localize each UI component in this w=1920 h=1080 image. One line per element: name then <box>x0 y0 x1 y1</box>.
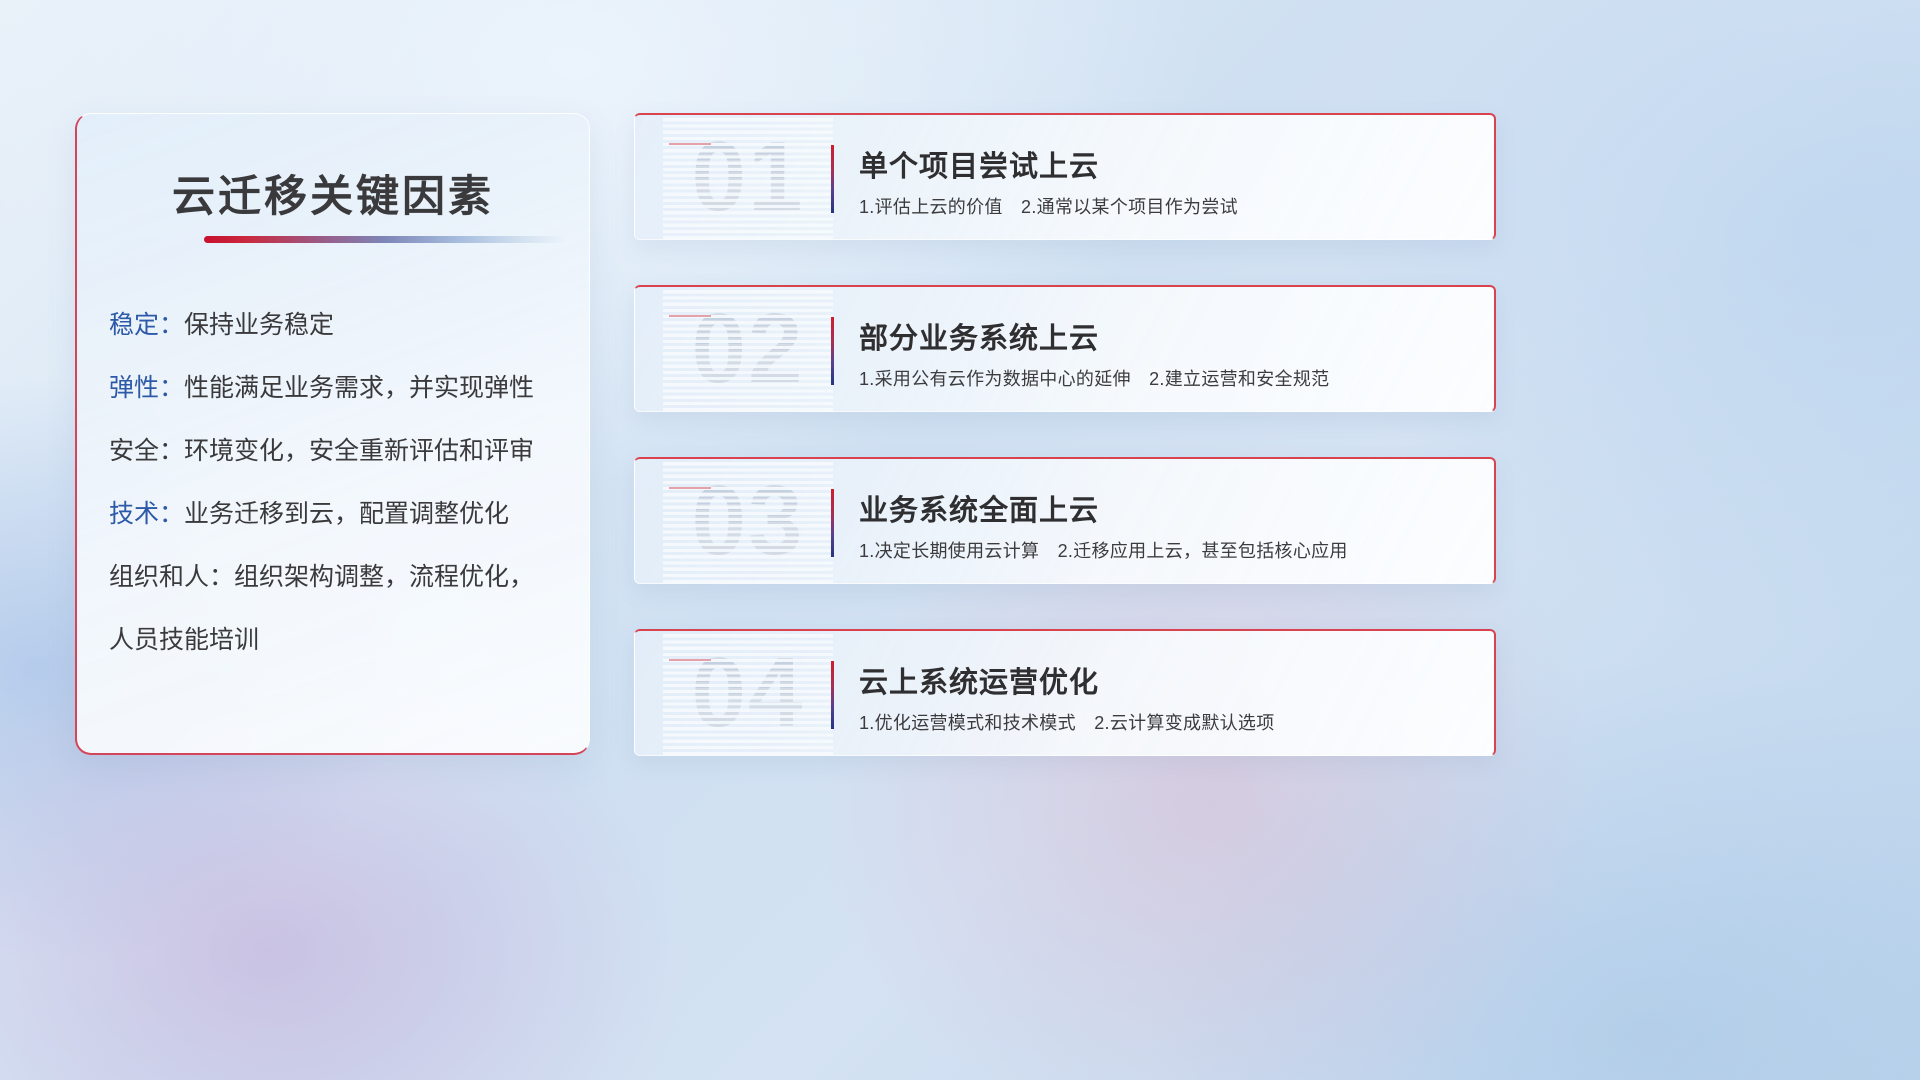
list-item-text: 环境变化，安全重新评估和评审 <box>184 437 534 465</box>
list-item-text: 性能满足业务需求，并实现弹性 <box>184 374 534 402</box>
stage-title: 云上系统运营优化 <box>859 659 1099 701</box>
key-factors-panel: 云迁移关键因素 稳定：保持业务稳定 弹性：性能满足业务需求，并实现弹性 安全：环… <box>75 113 590 755</box>
stage-number: 02 <box>663 285 833 412</box>
slide-canvas: 云迁移关键因素 稳定：保持业务稳定 弹性：性能满足业务需求，并实现弹性 安全：环… <box>0 0 1920 1080</box>
list-item-text: 组织架构调整，流程优化， <box>234 563 534 591</box>
stage-subtitle: 1.决定长期使用云计算 2.迁移应用上云，甚至包括核心应用 <box>859 537 1348 563</box>
stage-title: 业务系统全面上云 <box>859 487 1099 529</box>
panel-title: 云迁移关键因素 <box>77 162 589 224</box>
stage-subtitle: 1.采用公有云作为数据中心的延伸 2.建立运营和安全规范 <box>859 365 1329 391</box>
list-item-label: 安全： <box>109 437 184 465</box>
key-factors-list: 稳定：保持业务稳定 弹性：性能满足业务需求，并实现弹性 安全：环境变化，安全重新… <box>109 310 571 655</box>
title-underline-accent <box>204 236 566 243</box>
list-item-label: 弹性： <box>109 374 184 402</box>
list-item-label: 组织和人： <box>109 563 234 591</box>
stage-card-list: 01 单个项目尝试上云 1.评估上云的价值 2.通常以某个项目作为尝试 02 部… <box>634 113 1496 756</box>
list-item-label: 技术： <box>109 500 184 528</box>
stage-card[interactable]: 02 部分业务系统上云 1.采用公有云作为数据中心的延伸 2.建立运营和安全规范 <box>634 285 1496 412</box>
list-item-text: 人员技能培训 <box>109 626 259 654</box>
stage-number: 01 <box>663 113 833 240</box>
list-item: 稳定：保持业务稳定 <box>109 310 571 340</box>
stage-card[interactable]: 01 单个项目尝试上云 1.评估上云的价值 2.通常以某个项目作为尝试 <box>634 113 1496 240</box>
list-item: 安全：环境变化，安全重新评估和评审 <box>109 436 571 466</box>
accent-divider <box>831 489 834 557</box>
stage-card[interactable]: 03 业务系统全面上云 1.决定长期使用云计算 2.迁移应用上云，甚至包括核心应… <box>634 457 1496 584</box>
stage-number: 03 <box>663 457 833 584</box>
accent-divider <box>831 145 834 213</box>
list-item-label: 稳定： <box>109 311 184 339</box>
accent-divider <box>831 317 834 385</box>
list-item: 人员技能培训 <box>109 625 571 655</box>
stage-subtitle: 1.优化运营模式和技术模式 2.云计算变成默认选项 <box>859 709 1275 735</box>
list-item: 组织和人：组织架构调整，流程优化， <box>109 562 571 592</box>
list-item: 弹性：性能满足业务需求，并实现弹性 <box>109 373 571 403</box>
stage-card[interactable]: 04 云上系统运营优化 1.优化运营模式和技术模式 2.云计算变成默认选项 <box>634 629 1496 756</box>
list-item-text: 保持业务稳定 <box>184 311 334 339</box>
stage-number: 04 <box>663 629 833 756</box>
accent-divider <box>831 661 834 729</box>
stage-title: 单个项目尝试上云 <box>859 143 1099 185</box>
stage-subtitle: 1.评估上云的价值 2.通常以某个项目作为尝试 <box>859 193 1238 219</box>
list-item-text: 业务迁移到云，配置调整优化 <box>184 500 509 528</box>
stage-title: 部分业务系统上云 <box>859 315 1099 357</box>
list-item: 技术：业务迁移到云，配置调整优化 <box>109 499 571 529</box>
